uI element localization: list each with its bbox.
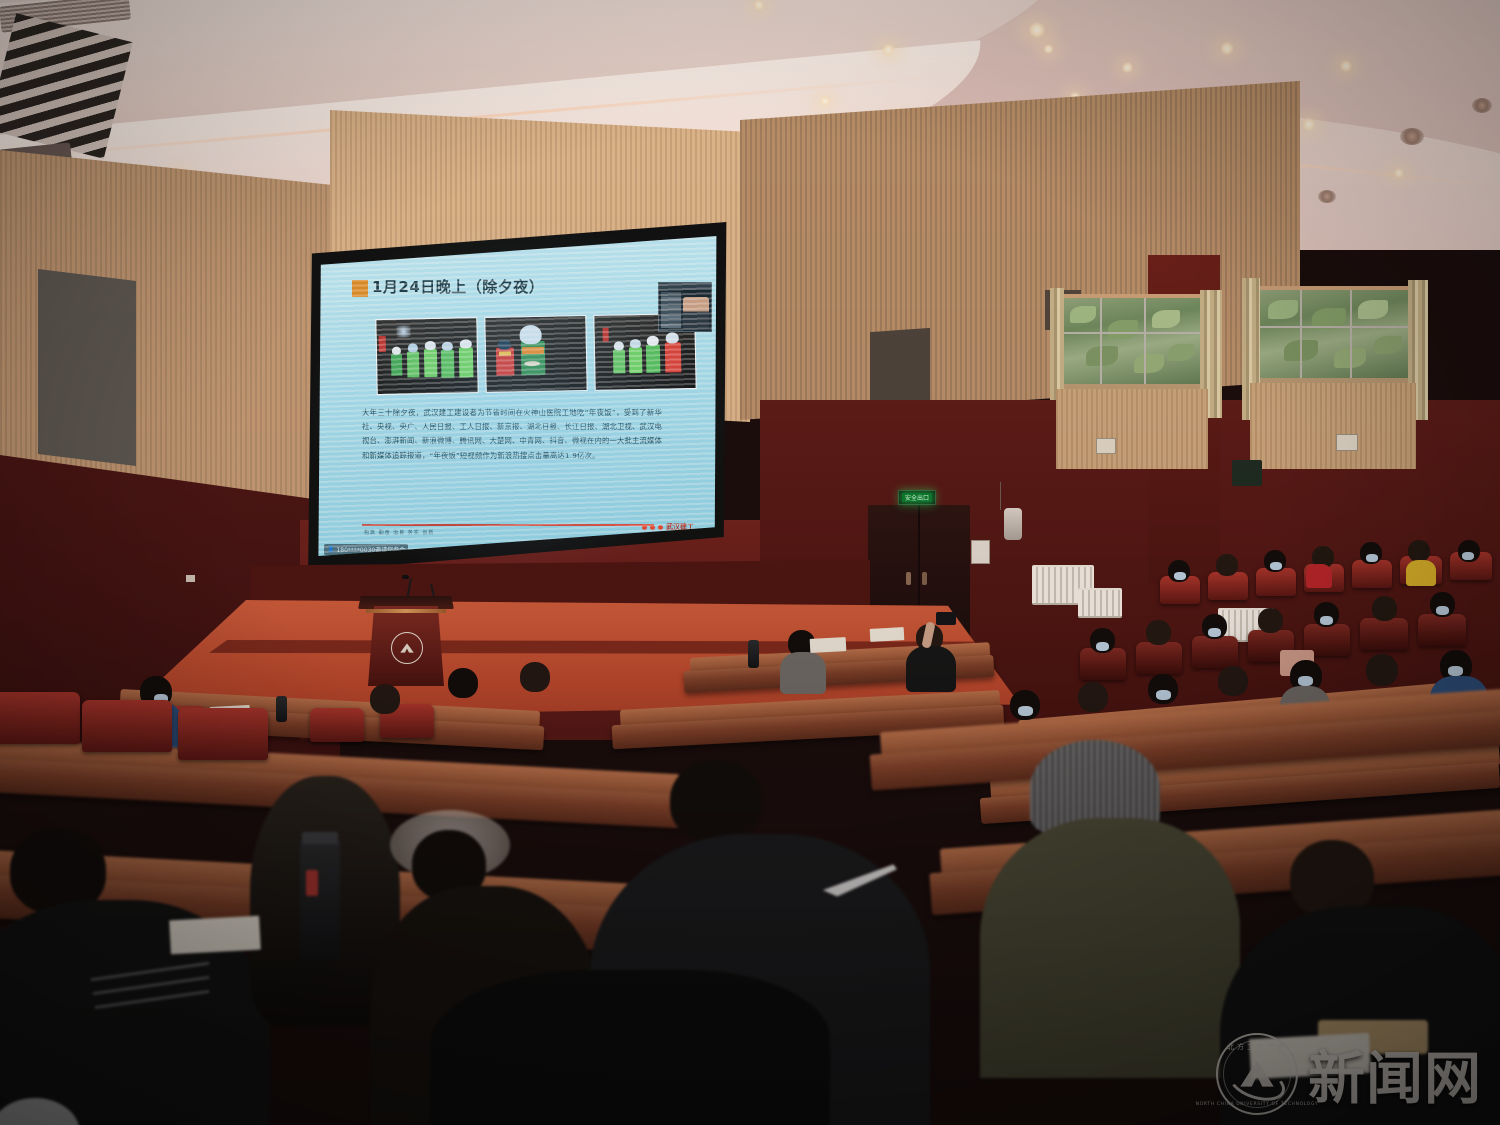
wall-notice-sheet — [971, 540, 990, 564]
person-join-icon: 👤 — [327, 546, 334, 553]
university-logo-icon: 北方工业大学 NORTH CHINA UNIVERSITY OF TECHNOL… — [1216, 1033, 1298, 1115]
downlight-icon — [880, 44, 897, 56]
auditorium-photo: 1月24日晚上（除夕夜） — [0, 0, 1500, 1125]
downlight-icon — [1042, 44, 1055, 54]
video-thumbnail-titlebar — [659, 283, 711, 290]
logo-chinese-name: 北方工业大学 — [1227, 1042, 1287, 1052]
exit-sign-panel: 安全出口 — [902, 493, 932, 502]
downlight-icon — [1392, 168, 1406, 178]
downlight-off-icon — [1400, 128, 1424, 145]
downlight-icon — [1300, 118, 1318, 131]
slide-photo-row — [375, 313, 696, 395]
video-thumbnail-speaker — [683, 297, 709, 329]
phone-camera — [936, 612, 956, 625]
downlight-icon — [1218, 42, 1236, 55]
projection-screen: 1月24日晚上（除夕夜） — [316, 236, 718, 556]
downlight-icon — [1026, 22, 1048, 38]
wall-outlet-box — [1336, 434, 1358, 451]
seat — [82, 700, 172, 752]
water-bottle — [748, 640, 759, 668]
downlight-icon — [818, 96, 832, 106]
video-thumbnail-slide-strip — [661, 292, 681, 328]
slide-footer-text: 构筑 勤奋 治良 务实 创新 — [364, 529, 434, 536]
slide-footer-rule — [362, 524, 654, 526]
microphone-head — [402, 575, 409, 579]
wall-outlet — [186, 575, 195, 582]
exit-sign: 安全出口 — [898, 490, 936, 505]
watermark: 北方工业大学 NORTH CHINA UNIVERSITY OF TECHNOL… — [1216, 1033, 1482, 1115]
logo-mountain-icon — [1235, 1059, 1279, 1089]
seat — [0, 692, 80, 744]
downlight-off-icon — [1472, 98, 1492, 113]
bottle-cap — [302, 832, 338, 844]
seat — [178, 708, 268, 760]
audience-center — [700, 610, 1030, 720]
wall-outlet-box — [1096, 438, 1116, 454]
watermark-title: 新闻网 — [1308, 1033, 1482, 1115]
slide-photo-1 — [375, 317, 478, 395]
paper-sheet — [870, 627, 905, 642]
slide-photo-2 — [484, 315, 587, 393]
door-handle[interactable] — [906, 572, 911, 585]
video-conference-thumbnail[interactable] — [658, 282, 712, 332]
acoustic-panel-gray — [38, 269, 136, 466]
window-right — [1250, 282, 1440, 532]
brand-dot-icon — [650, 525, 655, 530]
downlight-icon — [1338, 60, 1354, 72]
paper-sheet — [810, 637, 847, 653]
slide-body-text: 大年三十除夕夜，武汉建工建设者为节省时间在火神山医院工地吃“年夜饭”，受到了新华… — [362, 406, 662, 463]
door-handle[interactable] — [922, 572, 927, 585]
paper-sheet — [169, 916, 261, 955]
slide-title-bullet-icon — [352, 280, 368, 297]
speaker-cable — [1000, 482, 1001, 510]
wall-mounted-camera — [1232, 460, 1262, 486]
brand-dot-icon — [658, 525, 663, 530]
bottle-label — [306, 870, 318, 896]
logo-english-name: NORTH CHINA UNIVERSITY OF TECHNOLOGY — [1196, 1102, 1318, 1107]
downlight-off-icon — [1318, 190, 1336, 203]
logo-arc-icon — [1224, 1059, 1289, 1107]
downlight-icon — [1120, 62, 1135, 73]
window-curtain — [1050, 288, 1064, 400]
brand-dot-icon — [642, 525, 647, 530]
wall-speaker — [1004, 508, 1022, 540]
slide-title: 1月24日晚上（除夕夜） — [372, 276, 544, 297]
water-bottle — [300, 840, 340, 960]
window-left — [1056, 290, 1226, 530]
downlight-icon — [752, 0, 766, 10]
lectern-trim — [366, 609, 446, 613]
water-bottle — [276, 696, 287, 722]
exit-sign-label: 安全出口 — [905, 493, 929, 502]
